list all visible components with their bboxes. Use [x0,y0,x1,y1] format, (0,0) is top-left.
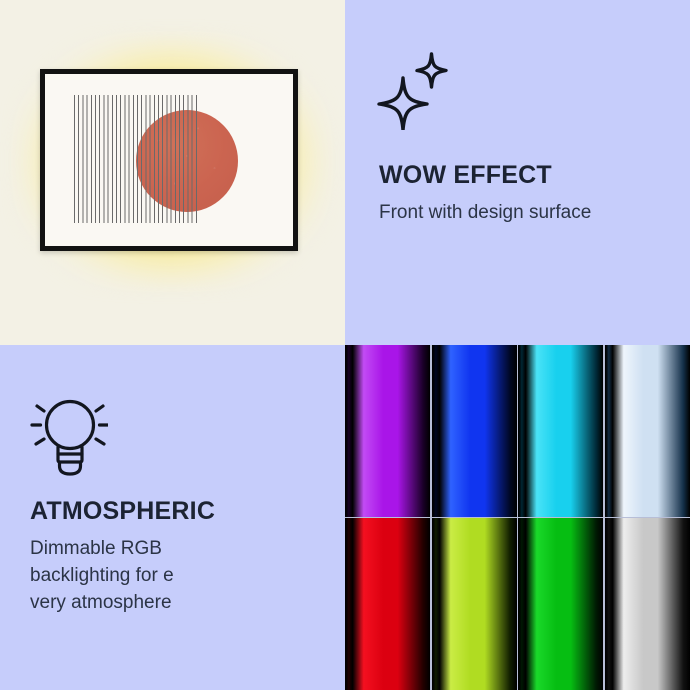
product-feature-poster: WOW EFFECT Front with design surface [0,0,690,690]
artwork-canvas [45,74,293,246]
rgb-swatch-blue [432,345,517,517]
atmospheric-subtitle-line-1: Dimmable RGB [30,535,174,562]
rgb-swatch-purple [345,345,430,517]
rgb-swatch-gradient [518,518,603,690]
rgb-swatch-edge-shadow [432,345,436,517]
rgb-swatch-gradient [345,518,430,690]
rgb-swatch-gradient [605,345,690,517]
rgb-swatch-edge-shadow [605,345,609,517]
wow-effect-feature: WOW EFFECT Front with design surface [345,0,690,345]
atmospheric-panel: ATMOSPHERIC Dimmable RGB backlighting fo… [0,345,345,690]
wow-effect-subtitle: Front with design surface [379,200,591,226]
wow-effect-panel: WOW EFFECT Front with design surface [345,0,690,345]
atmospheric-subtitle-line-3: very atmosphere [30,589,174,616]
rgb-swatch-gradient [518,345,603,517]
rgb-swatch-red [345,518,430,690]
rgb-swatch-edge-shadow [345,518,349,690]
rgb-swatch-edge-shadow [345,345,349,517]
rgb-swatch-green [518,518,603,690]
rgb-swatch-warm-white [605,518,690,690]
rgb-swatch-cool-white [605,345,690,517]
atmospheric-subtitle-line-2: backlighting for e [30,562,174,589]
rgb-swatch-edge-shadow [605,518,609,690]
atmospheric-subtitle: Dimmable RGB backlighting for e very atm… [30,535,174,616]
lightbulb-icon [28,392,108,478]
rgb-swatch-edge-shadow [432,518,436,690]
rgb-swatch-edge-shadow [518,518,522,690]
rgb-swatch-gradient [345,345,430,517]
rgb-swatch-edge-shadow [518,345,522,517]
wow-effect-title: WOW EFFECT [379,161,552,190]
rgb-color-swatch-grid [345,345,690,690]
rgb-swatch-cyan [518,345,603,517]
backlit-frame-panel [0,0,345,345]
picture-frame [40,69,298,251]
rgb-swatch-gradient [432,518,517,690]
atmospheric-title: ATMOSPHERIC [30,497,215,526]
rgb-swatch-gradient [432,345,517,517]
rgb-swatch-gradient [605,518,690,690]
sparkle-icon [377,52,451,130]
atmospheric-feature: ATMOSPHERIC Dimmable RGB backlighting fo… [0,345,345,690]
rgb-swatch-lime [432,518,517,690]
artwork-vertical-lines [74,95,198,223]
